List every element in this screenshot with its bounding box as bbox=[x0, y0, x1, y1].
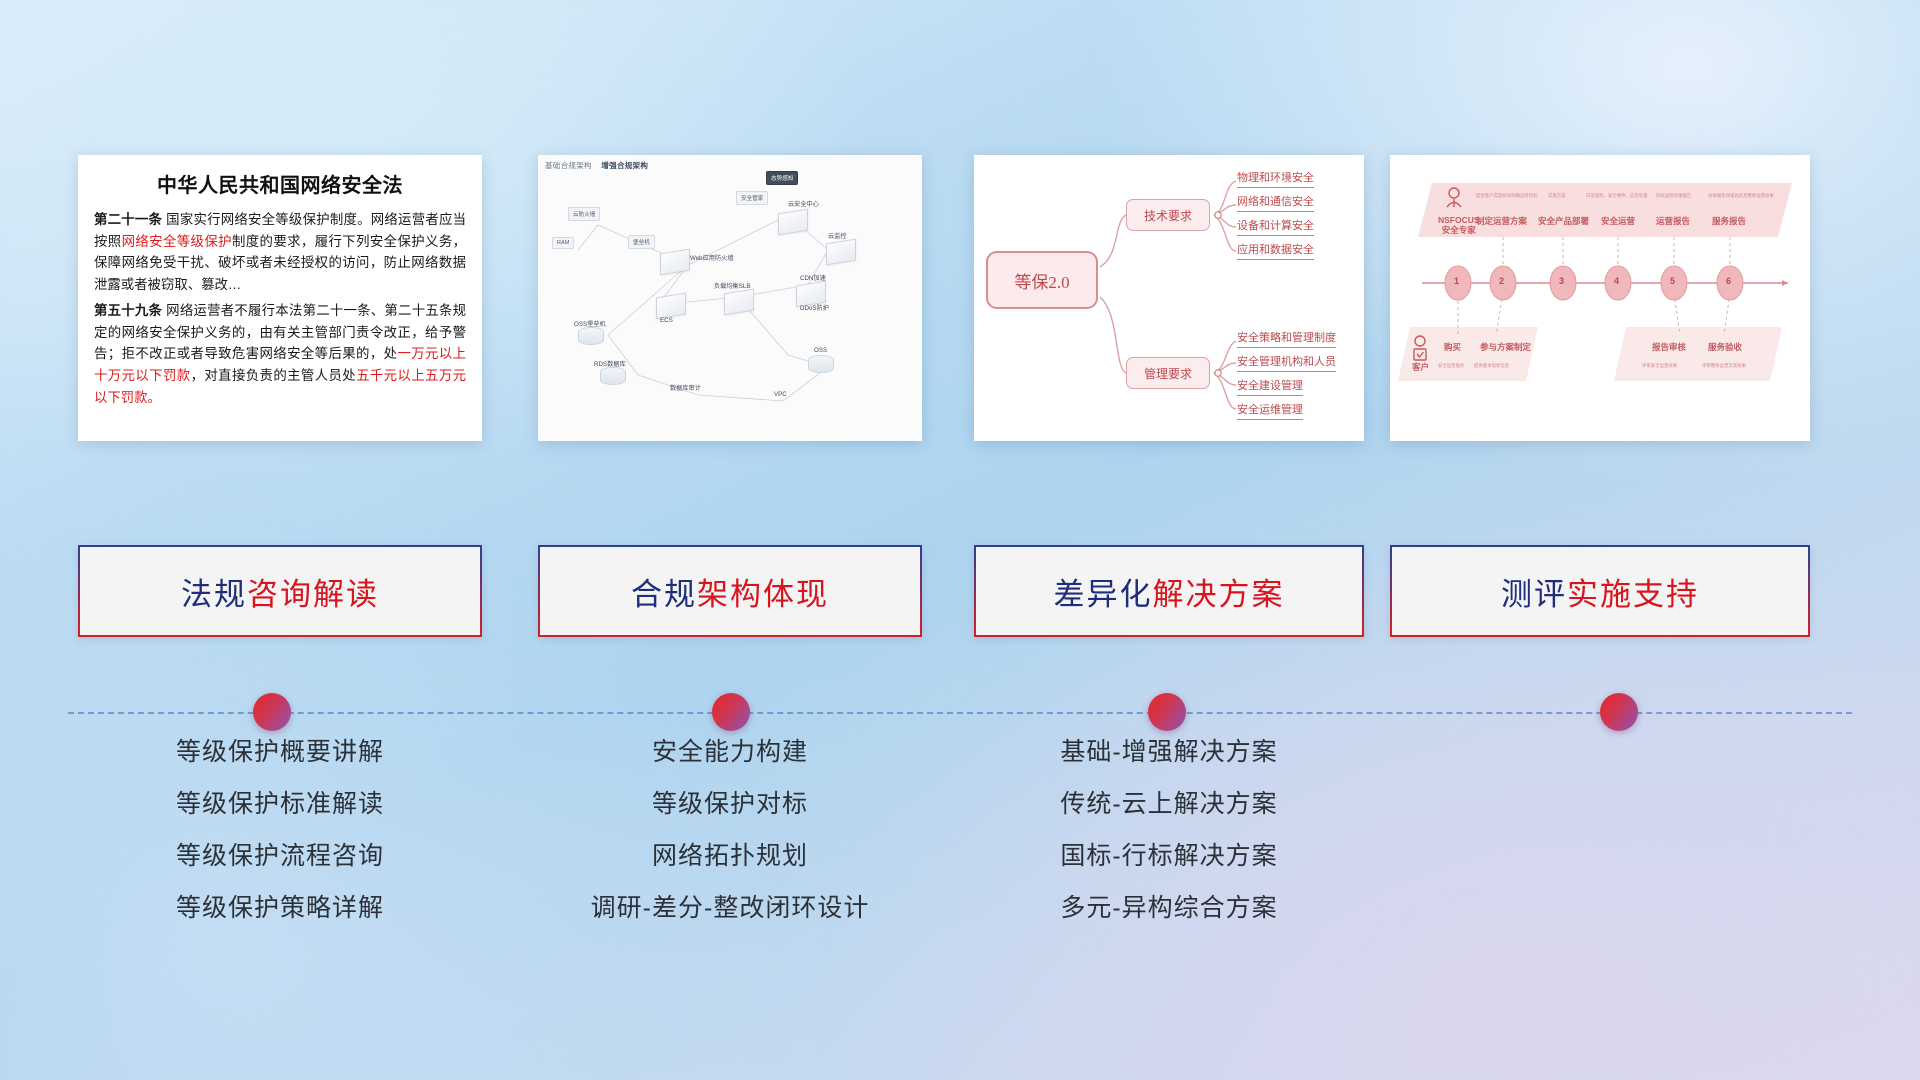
architecture-chip-7: 负载均衡SLB bbox=[714, 283, 750, 291]
architecture-node-cyl-ossgw bbox=[578, 327, 604, 345]
process-top-sub-4: 总体服务效果总结及整体运营效果 bbox=[1708, 193, 1774, 199]
mindmap-leaf-mgmt-3: 安全运维管理 bbox=[1237, 401, 1303, 420]
architecture-chip-4: 堡垒机 bbox=[628, 235, 655, 249]
process-step-4: 5 bbox=[1670, 276, 1675, 286]
mindmap-root-node: 等保2.0 bbox=[986, 251, 1098, 309]
cloud-architecture-diagram: 基础合规架构 增强合规架构 bbox=[538, 155, 922, 441]
section-title-4-red: 实施支持 bbox=[1567, 577, 1699, 612]
thumbnail-nsfocus-process[interactable]: NSFOCUS安全专家 客户 结合客户实际状况明确运营目标 实施方案 日常巡检、… bbox=[1390, 155, 1810, 441]
section-title-1-red: 咨询解读 bbox=[247, 577, 379, 612]
timeline-dot-4[interactable] bbox=[1600, 693, 1638, 731]
section-title-2-blue: 合规 bbox=[631, 577, 697, 612]
process-expert-label: NSFOCUS安全专家 bbox=[1438, 215, 1480, 235]
section-title-box-1[interactable]: 法规咨询解读 bbox=[78, 545, 482, 637]
timeline-dot-2[interactable] bbox=[712, 693, 750, 731]
architecture-chip-0: 安全管家 bbox=[736, 191, 768, 205]
list-item: 等级保护概要讲解 bbox=[78, 740, 482, 765]
mindmap-leaf-mgmt-2: 安全建设管理 bbox=[1237, 377, 1303, 396]
process-step-2: 3 bbox=[1559, 276, 1564, 286]
process-bottom-label-1: 参与方案制定 bbox=[1480, 341, 1531, 353]
thumbnail-law-document[interactable]: 中华人民共和国网络安全法 第二十一条 国家实行网络安全等级保护制度。网络运营者应… bbox=[78, 155, 482, 441]
mindmap-branch-management: 管理要求 bbox=[1126, 357, 1210, 389]
process-top-label-0: 制定运营方案 bbox=[1476, 215, 1527, 227]
architecture-chip-5: Web应用防火墙 bbox=[690, 255, 734, 263]
section-title-3-blue: 差异化 bbox=[1054, 577, 1153, 612]
process-bottom-sub-3: 评审整体运营方案效果 bbox=[1702, 363, 1746, 369]
mindmap-collapse-handle-mgmt bbox=[1215, 370, 1221, 376]
architecture-chip-16: VPC bbox=[774, 391, 787, 399]
process-bottom-label-0: 购买 bbox=[1444, 341, 1461, 353]
timeline bbox=[0, 693, 1920, 733]
detail-column-2: 安全能力构建 等级保护对标 网络拓扑规划 调研-差分-整改闭环设计 bbox=[538, 740, 922, 948]
process-step-3: 4 bbox=[1614, 276, 1619, 286]
slide-canvas: 中华人民共和国网络安全法 第二十一条 国家实行网络安全等级保护制度。网络运营者应… bbox=[0, 0, 1920, 1080]
section-title-3-red: 解决方案 bbox=[1153, 577, 1285, 612]
list-item: 调研-差分-整改闭环设计 bbox=[538, 896, 922, 921]
law-article-21-run-1: 网络安全等级保护 bbox=[122, 234, 232, 249]
list-item: 网络拓扑规划 bbox=[538, 844, 922, 869]
process-top-label-2: 安全运营 bbox=[1601, 215, 1635, 227]
mindmap-leaf-mgmt-0: 安全策略和管理制度 bbox=[1237, 329, 1336, 348]
process-customer-label: 客户 bbox=[1412, 361, 1429, 373]
process-bottom-sub-1: 提供基本现状信息 bbox=[1474, 363, 1509, 369]
architecture-chip-13: OSS bbox=[814, 347, 827, 355]
architecture-chip-15: 数据库审计 bbox=[670, 385, 701, 393]
law-article-21-number: 第二十一条 bbox=[94, 212, 162, 227]
law-document-title: 中华人民共和国网络安全法 bbox=[94, 169, 466, 198]
architecture-chip-12: OSS堡垒机 bbox=[574, 321, 606, 329]
law-article-59-run-2: ，对直接负责的主管人员处 bbox=[191, 368, 357, 383]
list-item: 多元-异构综合方案 bbox=[974, 896, 1364, 921]
process-bottom-sub-2: 评审安全运营效果 bbox=[1642, 363, 1677, 369]
law-article-59-number: 第五十九条 bbox=[94, 303, 162, 318]
list-item: 等级保护流程咨询 bbox=[78, 844, 482, 869]
architecture-chip-14: RDS数据库 bbox=[594, 361, 626, 369]
section-title-1: 法规咨询解读 bbox=[181, 569, 379, 614]
law-article-21: 第二十一条 国家实行网络安全等级保护制度。网络运营者应当按照网络安全等级保护制度… bbox=[94, 209, 466, 296]
section-title-2: 合规架构体现 bbox=[631, 569, 829, 614]
section-title-3: 差异化解决方案 bbox=[1054, 569, 1285, 614]
process-top-label-4: 服务报告 bbox=[1712, 215, 1746, 227]
section-title-4-blue: 测评 bbox=[1501, 577, 1567, 612]
section-title-4: 测评实施支持 bbox=[1501, 569, 1699, 614]
process-bottom-label-3: 服务验收 bbox=[1708, 341, 1742, 353]
mindmap-leaf-mgmt-1: 安全管理机构和人员 bbox=[1237, 353, 1336, 372]
process-top-sub-3: 阶段运营效果报告 bbox=[1656, 193, 1691, 199]
process-step-5: 6 bbox=[1726, 276, 1731, 286]
timeline-dashed-line bbox=[68, 712, 1852, 714]
process-step-1: 2 bbox=[1499, 276, 1504, 286]
thumbnail-mindmap[interactable]: 等保2.0 技术要求 管理要求 物理和环境安全 网络和通信安全 设备和计算安全 … bbox=[974, 155, 1364, 441]
mindmap-leaf-tech-2: 设备和计算安全 bbox=[1237, 217, 1314, 236]
law-document-body: 中华人民共和国网络安全法 第二十一条 国家实行网络安全等级保护制度。网络运营者应… bbox=[78, 155, 482, 422]
nsfocus-process-diagram: NSFOCUS安全专家 客户 结合客户实际状况明确运营目标 实施方案 日常巡检、… bbox=[1390, 155, 1810, 441]
list-item: 等级保护对标 bbox=[538, 792, 922, 817]
law-article-59: 第五十九条 网络运营者不履行本法第二十一条、第二十五条规定的网络安全保护义务的，… bbox=[94, 300, 466, 409]
thumbnail-row: 中华人民共和国网络安全法 第二十一条 国家实行网络安全等级保护制度。网络运营者应… bbox=[0, 155, 1920, 445]
section-title-box-4[interactable]: 测评实施支持 bbox=[1390, 545, 1810, 637]
architecture-node-cyl-rds bbox=[600, 367, 626, 385]
process-bottom-sub-0: 安全运营服务 bbox=[1438, 363, 1464, 369]
process-top-sub-0: 结合客户实际状况明确运营目标 bbox=[1476, 193, 1537, 199]
process-bottom-banner-right bbox=[1614, 327, 1782, 381]
architecture-chip-2: 云防火墙 bbox=[568, 207, 600, 221]
process-bottom-label-2: 报告审核 bbox=[1652, 341, 1686, 353]
process-top-label-1: 安全产品部署 bbox=[1538, 215, 1589, 227]
detail-lists: 等级保护概要讲解 等级保护标准解读 等级保护流程咨询 等级保护策略详解 安全能力… bbox=[0, 740, 1920, 980]
architecture-chip-1: 态势感知 bbox=[766, 171, 798, 185]
architecture-chip-11: DDoS防护 bbox=[800, 305, 829, 313]
list-item: 基础-增强解决方案 bbox=[974, 740, 1364, 765]
process-step-0: 1 bbox=[1454, 276, 1459, 286]
list-item: 等级保护策略详解 bbox=[78, 896, 482, 921]
process-top-sub-2: 日常巡检、安全事件、应急处置 bbox=[1586, 193, 1647, 199]
list-item: 安全能力构建 bbox=[538, 740, 922, 765]
detail-column-1: 等级保护概要讲解 等级保护标准解读 等级保护流程咨询 等级保护策略详解 bbox=[78, 740, 482, 948]
mindmap-leaf-tech-0: 物理和环境安全 bbox=[1237, 169, 1314, 188]
process-top-sub-1: 实施方案 bbox=[1548, 193, 1566, 199]
process-axis-arrow bbox=[1782, 280, 1788, 286]
list-item: 传统-云上解决方案 bbox=[974, 792, 1364, 817]
mindmap-collapse-handle-tech bbox=[1215, 212, 1221, 218]
list-item: 国标-行标解决方案 bbox=[974, 844, 1364, 869]
thumbnail-cloud-architecture[interactable]: 基础合规架构 增强合规架构 bbox=[538, 155, 922, 441]
mindmap-leaf-tech-3: 应用和数据安全 bbox=[1237, 241, 1314, 260]
architecture-chip-8: CDN加速 bbox=[800, 275, 826, 283]
section-title-2-red: 架构体现 bbox=[697, 577, 829, 612]
architecture-chip-9: 云安全中心 bbox=[788, 201, 819, 209]
process-top-label-3: 运营报告 bbox=[1656, 215, 1690, 227]
section-title-row: 法规咨询解读 合规架构体现 差异化解决方案 测评实施支持 bbox=[0, 545, 1920, 637]
architecture-chip-3: RAM bbox=[552, 237, 574, 249]
architecture-chip-6: ECS bbox=[660, 317, 673, 325]
timeline-dot-1[interactable] bbox=[253, 693, 291, 731]
mindmap-branch-technical: 技术要求 bbox=[1126, 199, 1210, 231]
section-title-1-blue: 法规 bbox=[181, 577, 247, 612]
architecture-node-cyl-oss bbox=[808, 355, 834, 373]
list-item: 等级保护标准解读 bbox=[78, 792, 482, 817]
mindmap-leaf-tech-1: 网络和通信安全 bbox=[1237, 193, 1314, 212]
section-title-box-3[interactable]: 差异化解决方案 bbox=[974, 545, 1364, 637]
detail-column-3: 基础-增强解决方案 传统-云上解决方案 国标-行标解决方案 多元-异构综合方案 bbox=[974, 740, 1364, 948]
section-title-box-2[interactable]: 合规架构体现 bbox=[538, 545, 922, 637]
architecture-chip-10: 云监控 bbox=[828, 233, 847, 241]
mindmap-dengbao: 等保2.0 技术要求 管理要求 物理和环境安全 网络和通信安全 设备和计算安全 … bbox=[974, 155, 1364, 441]
timeline-dot-3[interactable] bbox=[1148, 693, 1186, 731]
